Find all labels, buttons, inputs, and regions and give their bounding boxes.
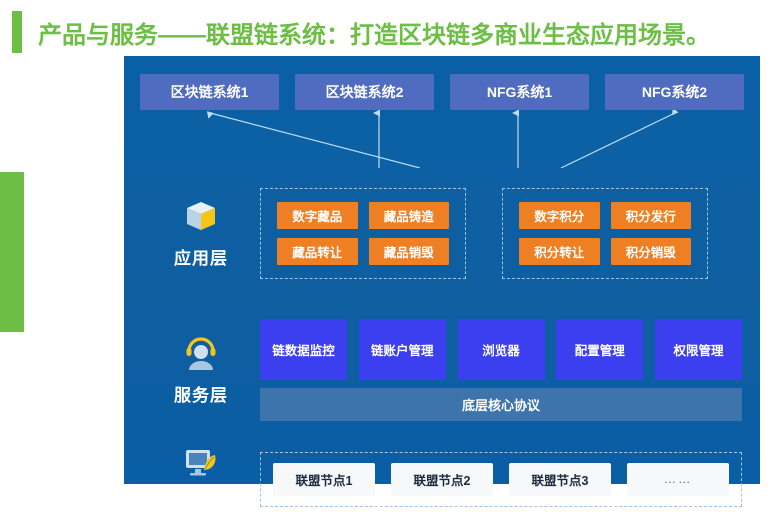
alliance-node-2[interactable]: 联盟节点2 [391, 463, 493, 496]
architecture-diagram-panel: 区块链系统1 区块链系统2 NFG系统1 NFG系统2 [124, 56, 760, 484]
service-item-label: 权限管理 [673, 340, 723, 359]
app-group-points: 数字积分 积分发行 积分转让 积分销毁 [502, 188, 708, 279]
alliance-node-1[interactable]: 联盟节点1 [273, 463, 375, 496]
alliance-node-more[interactable]: …… [627, 463, 729, 496]
service-core-protocol-bar[interactable]: 底层核心协议 [260, 388, 742, 421]
system-box-2[interactable]: 区块链系统2 [295, 74, 434, 110]
app-item-digital-points[interactable]: 数字积分 [519, 202, 600, 229]
layer-application-label-group: 应用层 [142, 197, 260, 269]
service-core-protocol-label: 底层核心协议 [462, 395, 540, 414]
cube-icon [181, 197, 221, 237]
alliance-node-label: 联盟节点2 [414, 470, 471, 489]
app-item-points-transfer[interactable]: 积分转让 [519, 238, 600, 265]
layer-alliance-label: 联盟生态 [165, 490, 237, 515]
layer-application: 应用层 数字藏品 藏品铸造 藏品转让 藏品销毁 数字积分 [142, 168, 742, 298]
service-item-chain-account-mgmt[interactable]: 链账户管理 [359, 319, 446, 380]
service-stack: 链数据监控 链账户管理 浏览器 配置管理 权限管理 [260, 319, 742, 421]
system-box-2-label: 区块链系统2 [326, 82, 404, 102]
service-item-config-mgmt[interactable]: 配置管理 [556, 319, 643, 380]
service-item-permission-mgmt[interactable]: 权限管理 [655, 319, 742, 380]
layer-application-label: 应用层 [174, 244, 228, 269]
page-title-bar: 产品与服务——联盟链系统：打造区块链多商业生态应用场景。 [0, 10, 776, 54]
system-box-1-label: 区块链系统1 [171, 82, 249, 102]
layer-service-content: 链数据监控 链账户管理 浏览器 配置管理 权限管理 [260, 319, 742, 421]
page-title: 产品与服务——联盟链系统：打造区块链多商业生态应用场景。 [38, 15, 710, 50]
service-item-label: 链数据监控 [272, 340, 335, 359]
system-box-3[interactable]: NFG系统1 [450, 74, 589, 110]
layer-application-content: 数字藏品 藏品铸造 藏品转让 藏品销毁 数字积分 积分发行 [260, 188, 742, 279]
app-item-collectible-mint[interactable]: 藏品铸造 [369, 202, 450, 229]
app-item-label: 藏品铸造 [384, 206, 434, 225]
app-item-collectible-transfer[interactable]: 藏品转让 [277, 238, 358, 265]
layer-alliance: 联盟生态 联盟节点1 联盟节点2 联盟节点3 …… [142, 442, 742, 516]
service-item-browser[interactable]: 浏览器 [458, 319, 545, 380]
service-boxes-row: 链数据监控 链账户管理 浏览器 配置管理 权限管理 [260, 319, 742, 380]
app-item-label: 积分发行 [626, 206, 676, 225]
system-box-1[interactable]: 区块链系统1 [140, 74, 279, 110]
title-accent-bar [12, 11, 22, 53]
layer-alliance-label-group: 联盟生态 [142, 443, 260, 515]
layer-service-label-group: 服务层 [142, 334, 260, 406]
service-item-chain-data-monitor[interactable]: 链数据监控 [260, 319, 347, 380]
app-item-label: 数字积分 [534, 206, 584, 225]
alliance-nodes-group: 联盟节点1 联盟节点2 联盟节点3 …… [260, 452, 742, 507]
app-item-label: 积分销毁 [626, 242, 676, 261]
app-item-label: 藏品转让 [292, 242, 342, 261]
system-box-4-label: NFG系统2 [642, 82, 707, 102]
app-item-points-burn[interactable]: 积分销毁 [611, 238, 692, 265]
side-accent-bar [0, 172, 24, 332]
app-item-label: 积分转让 [534, 242, 584, 261]
alliance-node-label: …… [664, 472, 693, 486]
alliance-node-label: 联盟节点3 [532, 470, 589, 489]
app-item-points-issue[interactable]: 积分发行 [611, 202, 692, 229]
layer-alliance-content: 联盟节点1 联盟节点2 联盟节点3 …… [260, 452, 742, 507]
layer-service-label: 服务层 [174, 381, 228, 406]
layer-service: 服务层 链数据监控 链账户管理 浏览器 配置管理 [142, 310, 742, 430]
app-item-label: 藏品销毁 [384, 242, 434, 261]
system-box-4[interactable]: NFG系统2 [605, 74, 744, 110]
app-item-label: 数字藏品 [292, 206, 342, 225]
service-item-label: 链账户管理 [371, 340, 434, 359]
app-item-collectible-burn[interactable]: 藏品销毁 [369, 238, 450, 265]
app-item-digital-collectible[interactable]: 数字藏品 [277, 202, 358, 229]
service-item-label: 浏览器 [482, 340, 520, 359]
connector-arrows [124, 110, 760, 168]
systems-row: 区块链系统1 区块链系统2 NFG系统1 NFG系统2 [140, 74, 744, 110]
alliance-node-3[interactable]: 联盟节点3 [509, 463, 611, 496]
monitor-leaf-icon [181, 443, 221, 483]
system-box-3-label: NFG系统1 [487, 82, 552, 102]
app-group-collectibles: 数字藏品 藏品铸造 藏品转让 藏品销毁 [260, 188, 466, 279]
service-item-label: 配置管理 [575, 340, 625, 359]
alliance-node-label: 联盟节点1 [296, 470, 353, 489]
headset-user-icon [181, 334, 221, 374]
